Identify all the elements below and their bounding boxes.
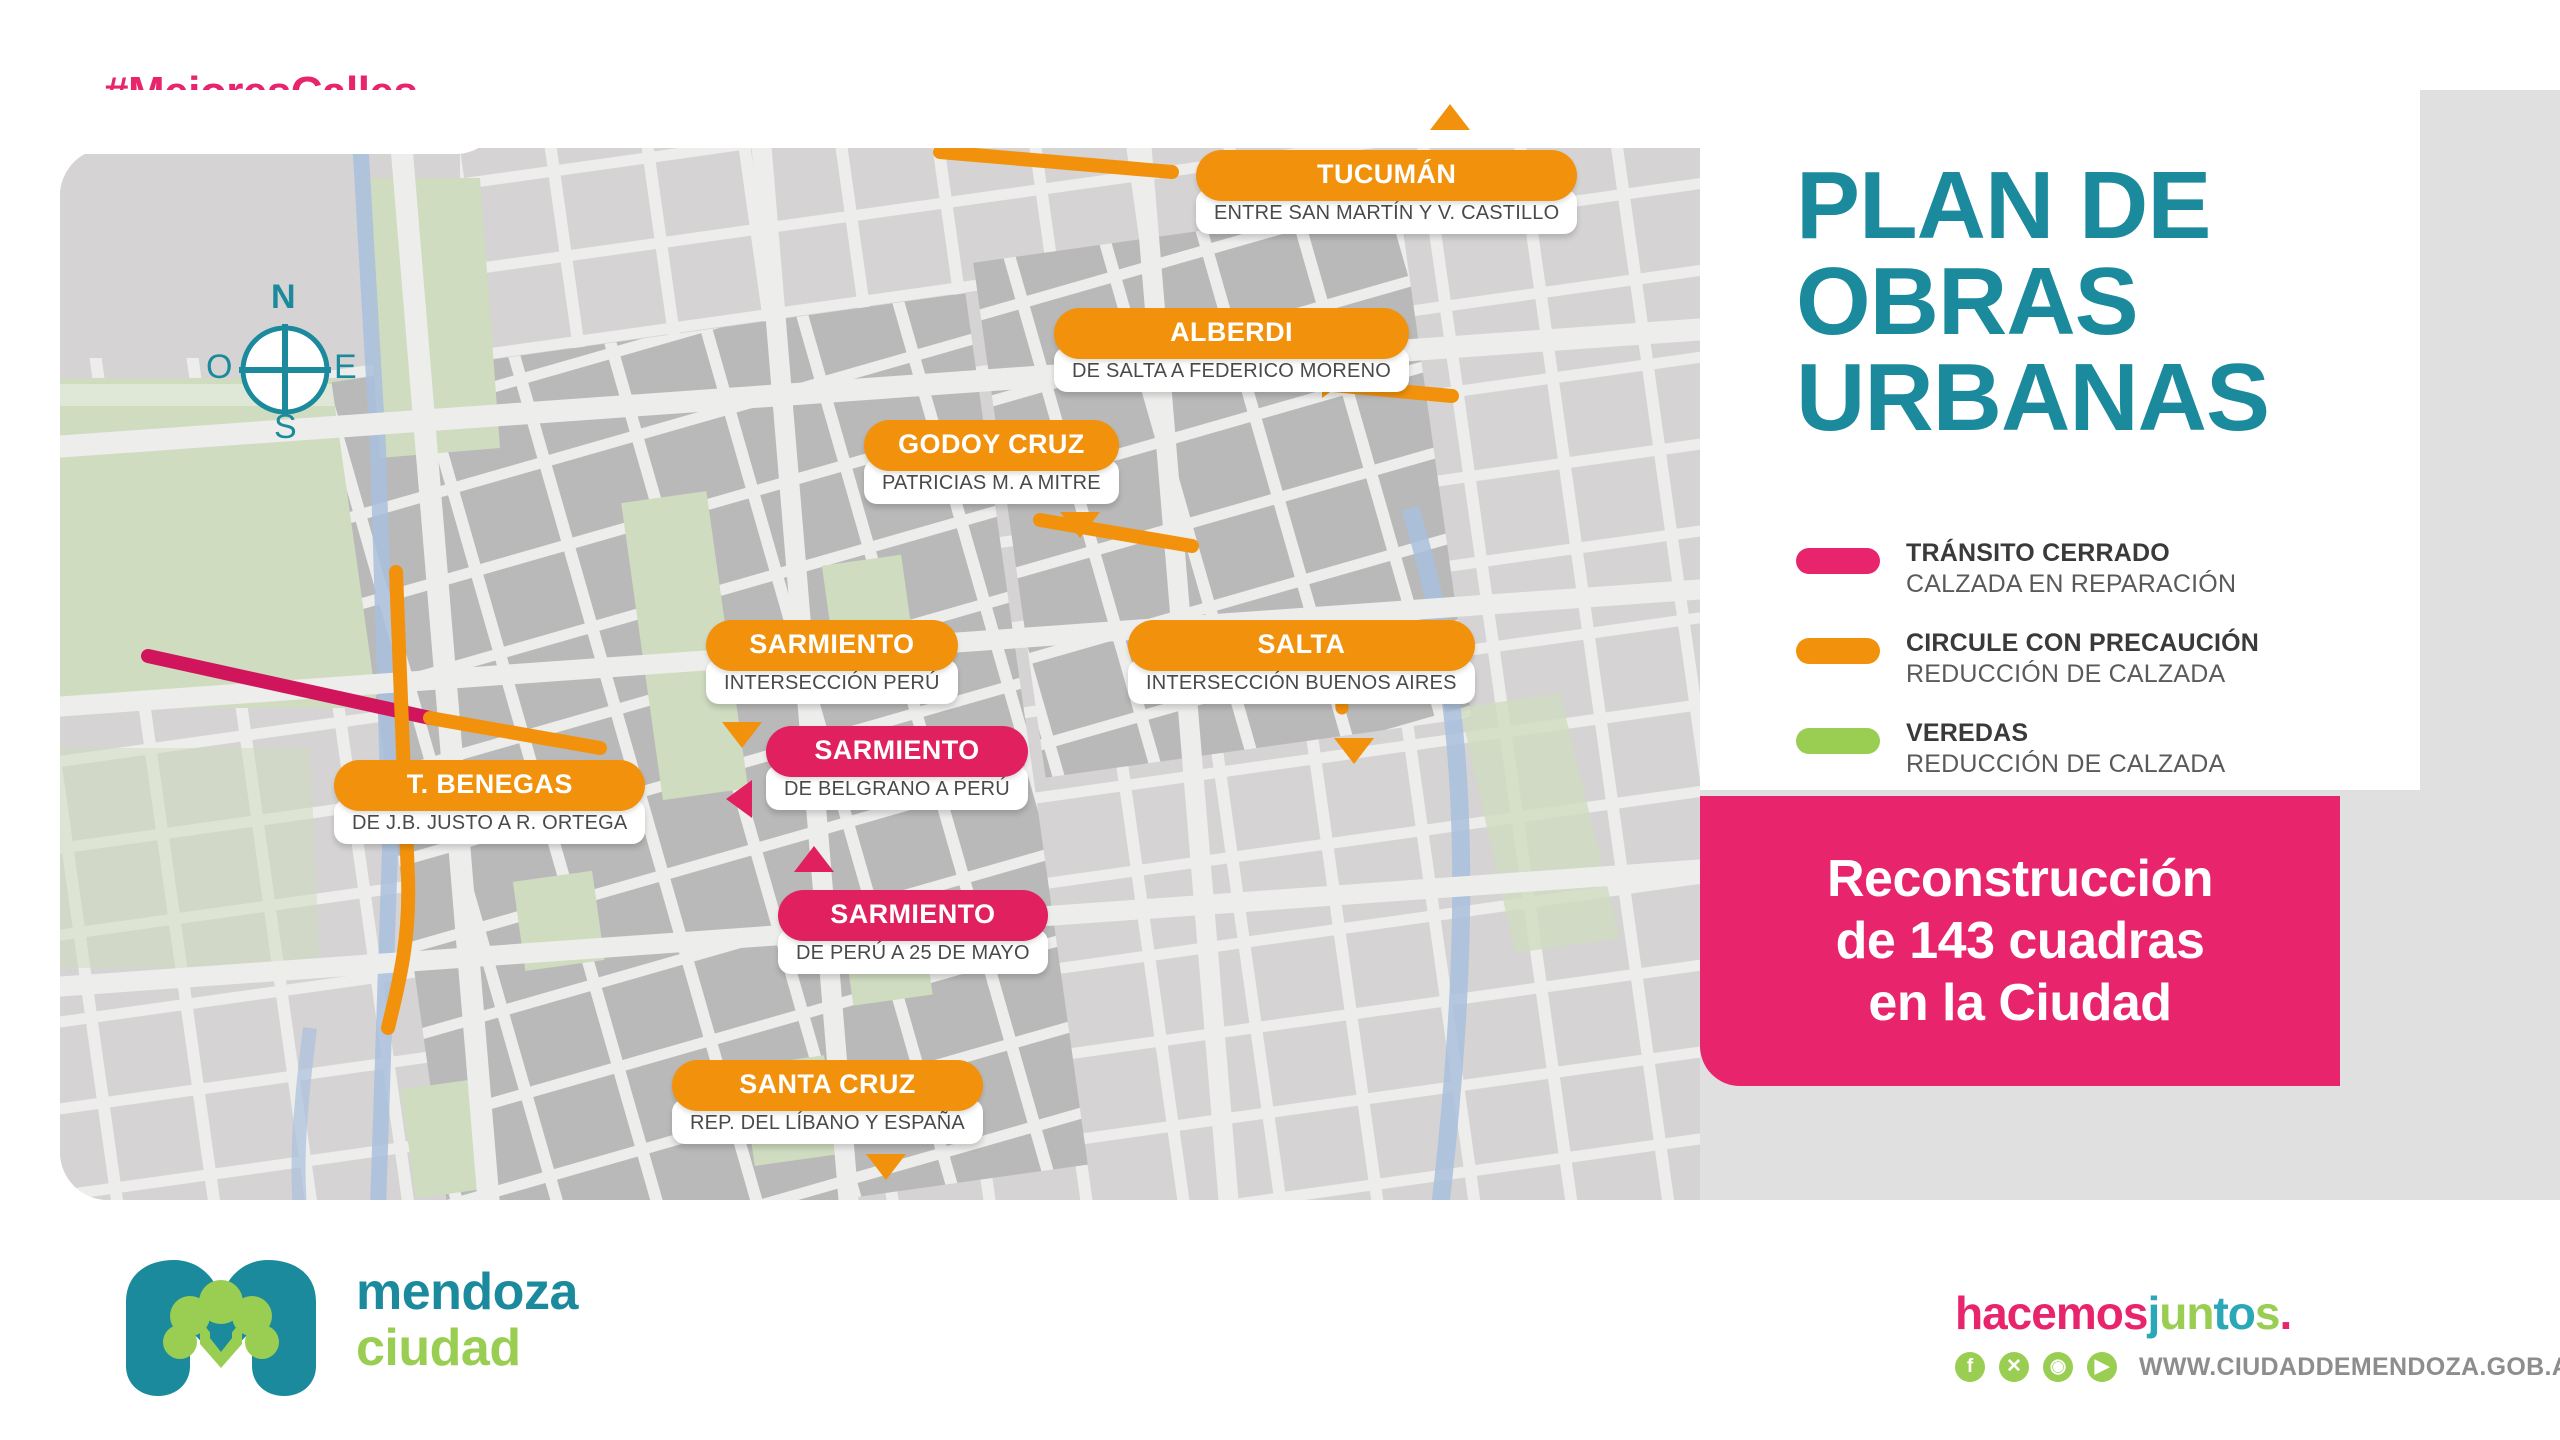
brand-letter-o: o (2228, 1287, 2255, 1339)
compass-north: N (271, 278, 296, 317)
legend-head-transito-cerrado: TRÁNSITO CERRADO (1906, 538, 2236, 568)
page-title-line-2: OBRAS (1796, 254, 2356, 350)
map-pin-alberdi-title: ALBERDI (1054, 308, 1409, 359)
compass-south: S (274, 408, 297, 447)
instagram-icon[interactable]: ◉ (2043, 1352, 2073, 1382)
page-title: PLAN DE OBRAS URBANAS (1796, 158, 2356, 446)
legend-head-circule-con-precaucion: CIRCULE CON PRECAUCIÓN (1906, 628, 2259, 658)
legend-item-veredas: VEREDAS REDUCCIÓN DE CALZADA (1796, 718, 2356, 780)
mendoza-m-icon (118, 1258, 348, 1398)
map-pin-salta-arrow (1334, 738, 1374, 764)
map-pin-sarmiento-1-title: SARMIENTO (706, 620, 958, 671)
legend-sub-veredas: REDUCCIÓN DE CALZADA (1906, 748, 2225, 780)
map-pin-santa-cruz-arrow (866, 1154, 906, 1180)
map-pin-sarmiento-2-arrow (726, 780, 752, 818)
callout-line-3: en la Ciudad (1827, 972, 2213, 1034)
brand-letter-n: n (2186, 1287, 2213, 1339)
mendoza-ciudad-logo: mendoza ciudad (118, 1258, 588, 1398)
logo-text-ciudad: ciudad (356, 1320, 578, 1376)
map-pin-t-benegas[interactable]: T. BENEGAS DE J.B. JUSTO A R. ORTEGA (334, 760, 645, 844)
legend: TRÁNSITO CERRADO CALZADA EN REPARACIÓN C… (1796, 538, 2356, 808)
compass-east: E (334, 348, 357, 387)
x-twitter-icon[interactable]: ✕ (1999, 1352, 2029, 1382)
highlight-callout: Reconstrucción de 143 cuadras en la Ciud… (1700, 796, 2340, 1086)
map-pin-sarmiento-3-arrow (794, 846, 834, 872)
legend-head-veredas: VEREDAS (1906, 718, 2225, 748)
map-pin-sarmiento-3[interactable]: SARMIENTO DE PERÚ A 25 DE MAYO (778, 890, 1048, 974)
website-url[interactable]: WWW.CIUDADDEMENDOZA.GOB.AR (2139, 1353, 2560, 1382)
brand-letter-s: s (2255, 1287, 2280, 1339)
hacemos-juntos-brand: hacemosjuntos. f ✕ ◉ ▶ WWW.CIUDADDEMENDO… (1955, 1288, 2560, 1382)
map-pin-salta-title: SALTA (1128, 620, 1475, 671)
map-pin-alberdi[interactable]: ALBERDI DE SALTA A FEDERICO MORENO (1054, 308, 1409, 392)
map-corner-notch (60, 90, 500, 154)
map-pin-salta[interactable]: SALTA INTERSECCIÓN BUENOS AIRES (1128, 620, 1475, 704)
legend-sub-circule-con-precaucion: REDUCCIÓN DE CALZADA (1906, 658, 2259, 690)
brand-hacemos: hacemos (1955, 1287, 2147, 1339)
legend-swatch-transito-cerrado (1796, 548, 1880, 574)
legend-item-circule-con-precaucion: CIRCULE CON PRECAUCIÓN REDUCCIÓN DE CALZ… (1796, 628, 2356, 690)
map-pin-t-benegas-title: T. BENEGAS (334, 760, 645, 811)
map-pin-santa-cruz[interactable]: SANTA CRUZ REP. DEL LÍBANO Y ESPAÑA (672, 1060, 983, 1144)
callout-line-1: Reconstrucción (1827, 848, 2213, 910)
map-pin-godoy-cruz-arrow (1060, 512, 1100, 538)
legend-swatch-circule-con-precaucion (1796, 638, 1880, 664)
infographic-canvas: #MejoresCalles (0, 0, 2560, 1440)
page-title-line-3: URBANAS (1796, 350, 2356, 446)
map-pin-sarmiento-1-arrow (722, 722, 762, 748)
map-pin-godoy-cruz-title: GODOY CRUZ (864, 420, 1119, 471)
brand-letter-dot: . (2279, 1287, 2291, 1339)
brand-letter-t: t (2213, 1287, 2227, 1339)
legend-item-transito-cerrado: TRÁNSITO CERRADO CALZADA EN REPARACIÓN (1796, 538, 2356, 600)
legend-sub-transito-cerrado: CALZADA EN REPARACIÓN (1906, 568, 2236, 600)
page-title-line-1: PLAN DE (1796, 158, 2356, 254)
legend-swatch-veredas (1796, 728, 1880, 754)
map-pin-godoy-cruz[interactable]: GODOY CRUZ PATRICIAS M. A MITRE (864, 420, 1119, 504)
youtube-icon[interactable]: ▶ (2087, 1352, 2117, 1382)
compass-rose: N S E O (210, 290, 360, 450)
map-pin-sarmiento-2[interactable]: SARMIENTO DE BELGRANO A PERÚ (766, 726, 1028, 810)
logo-text-mendoza: mendoza (356, 1264, 578, 1320)
map-pin-sarmiento-3-title: SARMIENTO (778, 890, 1048, 941)
map-pin-tucuman[interactable]: TUCUMÁN ENTRE SAN MARTÍN Y V. CASTILLO (1196, 150, 1577, 234)
map-pin-sarmiento-2-title: SARMIENTO (766, 726, 1028, 777)
map-pin-tucuman-arrow (1430, 104, 1470, 130)
brand-letter-u: u (2159, 1287, 2186, 1339)
map-pin-santa-cruz-title: SANTA CRUZ (672, 1060, 983, 1111)
map-pin-tucuman-title: TUCUMÁN (1196, 150, 1577, 201)
compass-west: O (206, 348, 232, 387)
map-pin-sarmiento-1[interactable]: SARMIENTO INTERSECCIÓN PERÚ (706, 620, 958, 704)
callout-line-2: de 143 cuadras (1827, 910, 2213, 972)
facebook-icon[interactable]: f (1955, 1352, 1985, 1382)
brand-letter-j: j (2147, 1287, 2159, 1339)
